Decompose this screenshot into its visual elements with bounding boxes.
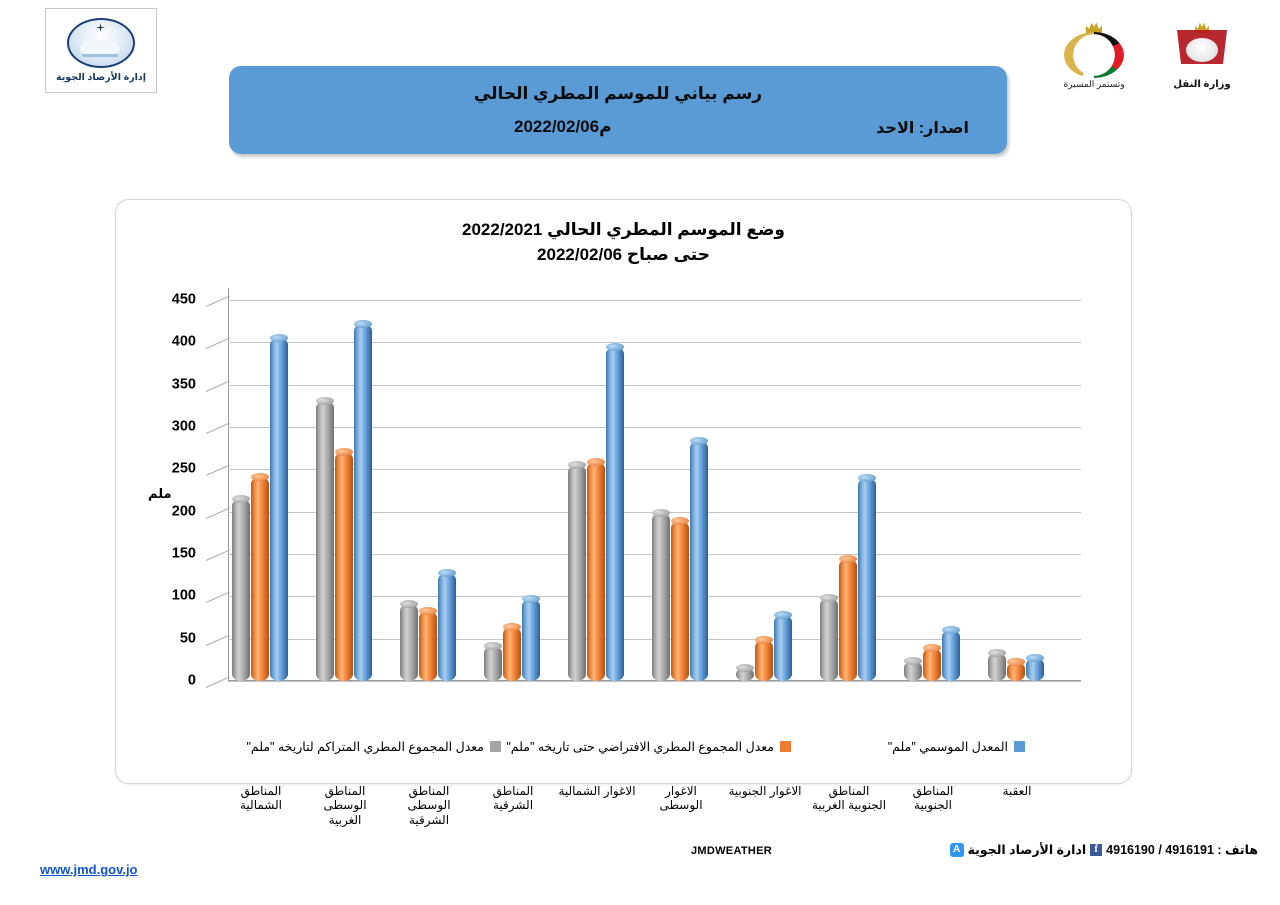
chart-legend: المعدل الموسمي "ملم"معدل المجموع المطري … — [116, 739, 1131, 761]
centennial-logo: 100 وتستمر المسيرة — [1055, 10, 1133, 90]
bar[interactable] — [251, 477, 269, 681]
x-axis-label: العقبة — [978, 784, 1056, 798]
y-axis-tick: 350 — [172, 376, 196, 392]
x-axis-label: المناطق الوسطى الغربية — [306, 784, 384, 827]
gridline — [228, 681, 1081, 682]
app-icon[interactable]: A — [950, 843, 964, 857]
bar-cap — [400, 600, 418, 608]
y-axis-tick: 250 — [172, 461, 196, 477]
bar-group — [232, 338, 288, 681]
bar-group — [568, 347, 624, 681]
bar[interactable] — [503, 627, 521, 681]
bar-cap — [652, 509, 670, 517]
x-axis-label: المناطق الشرقية — [474, 784, 552, 813]
bar-cap — [904, 657, 922, 665]
centennial-number: 100 — [1064, 32, 1124, 78]
legend-item[interactable]: معدل المجموع المطري الافتراضي حتى تاريخه… — [506, 739, 791, 754]
gridline-depth — [206, 338, 230, 349]
chart-title-line2: حتى صباح 2022/02/06 — [116, 243, 1131, 268]
centennial-slogan: وتستمر المسيرة — [1063, 79, 1124, 90]
bar-cap — [354, 320, 372, 328]
bar-cap — [606, 343, 624, 351]
bar[interactable] — [335, 452, 353, 681]
bar-cap — [988, 649, 1006, 657]
facebook-label: ادارة الأرصاد الجوية — [968, 842, 1087, 857]
bar-cap — [774, 611, 792, 619]
bar-cap — [251, 473, 269, 481]
x-axis-label: الاغوار الجنوبية — [726, 784, 804, 798]
bar-cap — [522, 595, 540, 603]
x-axis-label: المناطق الوسطى الشرقية — [390, 784, 468, 827]
bar[interactable] — [839, 559, 857, 681]
footer-brand: JMDWEATHER — [691, 845, 772, 857]
bar-series-container — [228, 300, 1081, 681]
y-axis-tick: 50 — [180, 630, 196, 646]
website-link[interactable]: www.jmd.gov.jo — [40, 862, 138, 877]
bar-group — [988, 653, 1044, 681]
bar-group — [400, 573, 456, 681]
legend-swatch — [1014, 741, 1025, 752]
bar-cap — [820, 594, 838, 602]
bar[interactable] — [904, 661, 922, 681]
legend-item[interactable]: معدل المجموع المطري المتراكم لتاريخه "مل… — [246, 739, 501, 754]
bar-group — [904, 630, 960, 681]
y-axis-tick: 400 — [172, 334, 196, 350]
gridline-depth — [206, 676, 230, 687]
legend-label: معدل المجموع المطري المتراكم لتاريخه "مل… — [246, 739, 484, 754]
bar[interactable] — [270, 338, 288, 681]
bar-cap — [335, 448, 353, 456]
bar[interactable] — [923, 648, 941, 681]
bar[interactable] — [438, 573, 456, 681]
bar[interactable] — [568, 465, 586, 681]
bar[interactable] — [820, 598, 838, 681]
bar[interactable] — [755, 640, 773, 681]
gridline-depth — [206, 634, 230, 645]
bar-cap — [232, 495, 250, 503]
bar-cap — [484, 642, 502, 650]
jmd-seal-icon — [67, 18, 135, 68]
bar-cap — [755, 636, 773, 644]
y-axis-tick: 0 — [188, 673, 196, 689]
footer-contact: هاتف : 4916191 / 4916190 f ادارة الأرصاد… — [950, 842, 1258, 857]
y-axis-tick: 450 — [172, 292, 196, 308]
bar[interactable] — [316, 401, 334, 681]
gridline-depth — [206, 295, 230, 306]
bar-cap — [736, 664, 754, 672]
gridline-depth — [206, 592, 230, 603]
bar-cap — [438, 569, 456, 577]
chart-panel: وضع الموسم المطري الحالي 2022/2021 حتى ص… — [115, 199, 1132, 784]
bar-cap — [839, 555, 857, 563]
bar-cap — [1007, 658, 1025, 666]
jmd-logo: إدارة الأرصاد الجوية — [45, 8, 157, 93]
bar[interactable] — [232, 499, 250, 681]
x-axis-label: المناطق الجنوبية — [894, 784, 972, 813]
bar[interactable] — [400, 604, 418, 681]
bar[interactable] — [774, 615, 792, 681]
y-axis-tick: 300 — [172, 419, 196, 435]
bar-cap — [671, 517, 689, 525]
x-axis-label: المناطق الشمالية — [222, 784, 300, 813]
shield-shape — [1186, 38, 1218, 62]
x-axis-label: الاغوار الشمالية — [558, 784, 636, 798]
gridline-depth — [206, 380, 230, 391]
plot-area: 050100150200250300350400450 المناطق الشم… — [206, 288, 1081, 693]
bar-cap — [923, 644, 941, 652]
x-axis-label: الاغوار الوسطى — [642, 784, 720, 813]
bar[interactable] — [671, 521, 689, 681]
legend-swatch — [780, 741, 791, 752]
x-axis-label: المناطق الجنوبية الغربية — [810, 784, 888, 813]
bar-cap — [858, 474, 876, 482]
bar-cap — [503, 623, 521, 631]
bar[interactable] — [1026, 658, 1044, 681]
header-banner: رسم بياني للموسم المطري الحالي اصدار: ال… — [229, 66, 1007, 154]
bar-cap — [419, 607, 437, 615]
bar-group — [316, 324, 372, 681]
bar-cap — [587, 458, 605, 466]
bar[interactable] — [942, 630, 960, 681]
bar[interactable] — [652, 513, 670, 681]
bar-cap — [1026, 654, 1044, 662]
legend-label: معدل المجموع المطري الافتراضي حتى تاريخه… — [506, 739, 774, 754]
bar-group — [652, 441, 708, 681]
facebook-icon[interactable]: f — [1090, 844, 1102, 856]
centennial-ring-icon: 100 — [1064, 32, 1124, 78]
y-axis-label: ملم — [148, 486, 172, 502]
banner-title: رسم بياني للموسم المطري الحالي — [229, 84, 1007, 104]
star-icon — [96, 23, 105, 32]
gridline-depth — [206, 422, 230, 433]
bar[interactable] — [858, 478, 876, 681]
bar[interactable] — [419, 611, 437, 681]
y-axis-tick: 200 — [172, 503, 196, 519]
y-axis-tick: 100 — [172, 588, 196, 604]
bar[interactable] — [522, 599, 540, 681]
bar[interactable] — [988, 653, 1006, 681]
legend-item[interactable]: المعدل الموسمي "ملم" — [888, 739, 1025, 754]
gridline-depth — [206, 465, 230, 476]
banner-issue-label: اصدار: الاحد — [876, 118, 969, 138]
chart-title-line1: وضع الموسم المطري الحالي 2022/2021 — [116, 218, 1131, 243]
bar[interactable] — [354, 324, 372, 681]
bar[interactable] — [1007, 662, 1025, 681]
coat-of-arms-icon — [1174, 22, 1230, 78]
bar-cap — [568, 461, 586, 469]
phone-label: هاتف : 4916191 / 4916190 — [1106, 842, 1258, 857]
bar-cap — [942, 626, 960, 634]
bar[interactable] — [484, 646, 502, 681]
bar[interactable] — [587, 462, 605, 681]
chart-title: وضع الموسم المطري الحالي 2022/2021 حتى ص… — [116, 218, 1131, 267]
bar-group — [820, 478, 876, 681]
banner-date: 2022/02/06م — [514, 117, 612, 137]
ministry-logo: وزارة النقل — [1163, 10, 1241, 90]
bar[interactable] — [690, 441, 708, 681]
y-axis-tick: 150 — [172, 546, 196, 562]
bar-group — [484, 599, 540, 681]
bar-group — [736, 615, 792, 681]
bar[interactable] — [736, 668, 754, 681]
gridline-depth — [206, 507, 230, 518]
legend-swatch — [490, 741, 501, 752]
bar-cap — [690, 437, 708, 445]
gridline-depth — [206, 549, 230, 560]
ministry-label: وزارة النقل — [1173, 79, 1230, 90]
bar-cap — [316, 397, 334, 405]
jmd-logo-caption: إدارة الأرصاد الجوية — [56, 72, 146, 83]
bar[interactable] — [606, 347, 624, 681]
bar-cap — [270, 334, 288, 342]
legend-label: المعدل الموسمي "ملم" — [888, 739, 1008, 754]
